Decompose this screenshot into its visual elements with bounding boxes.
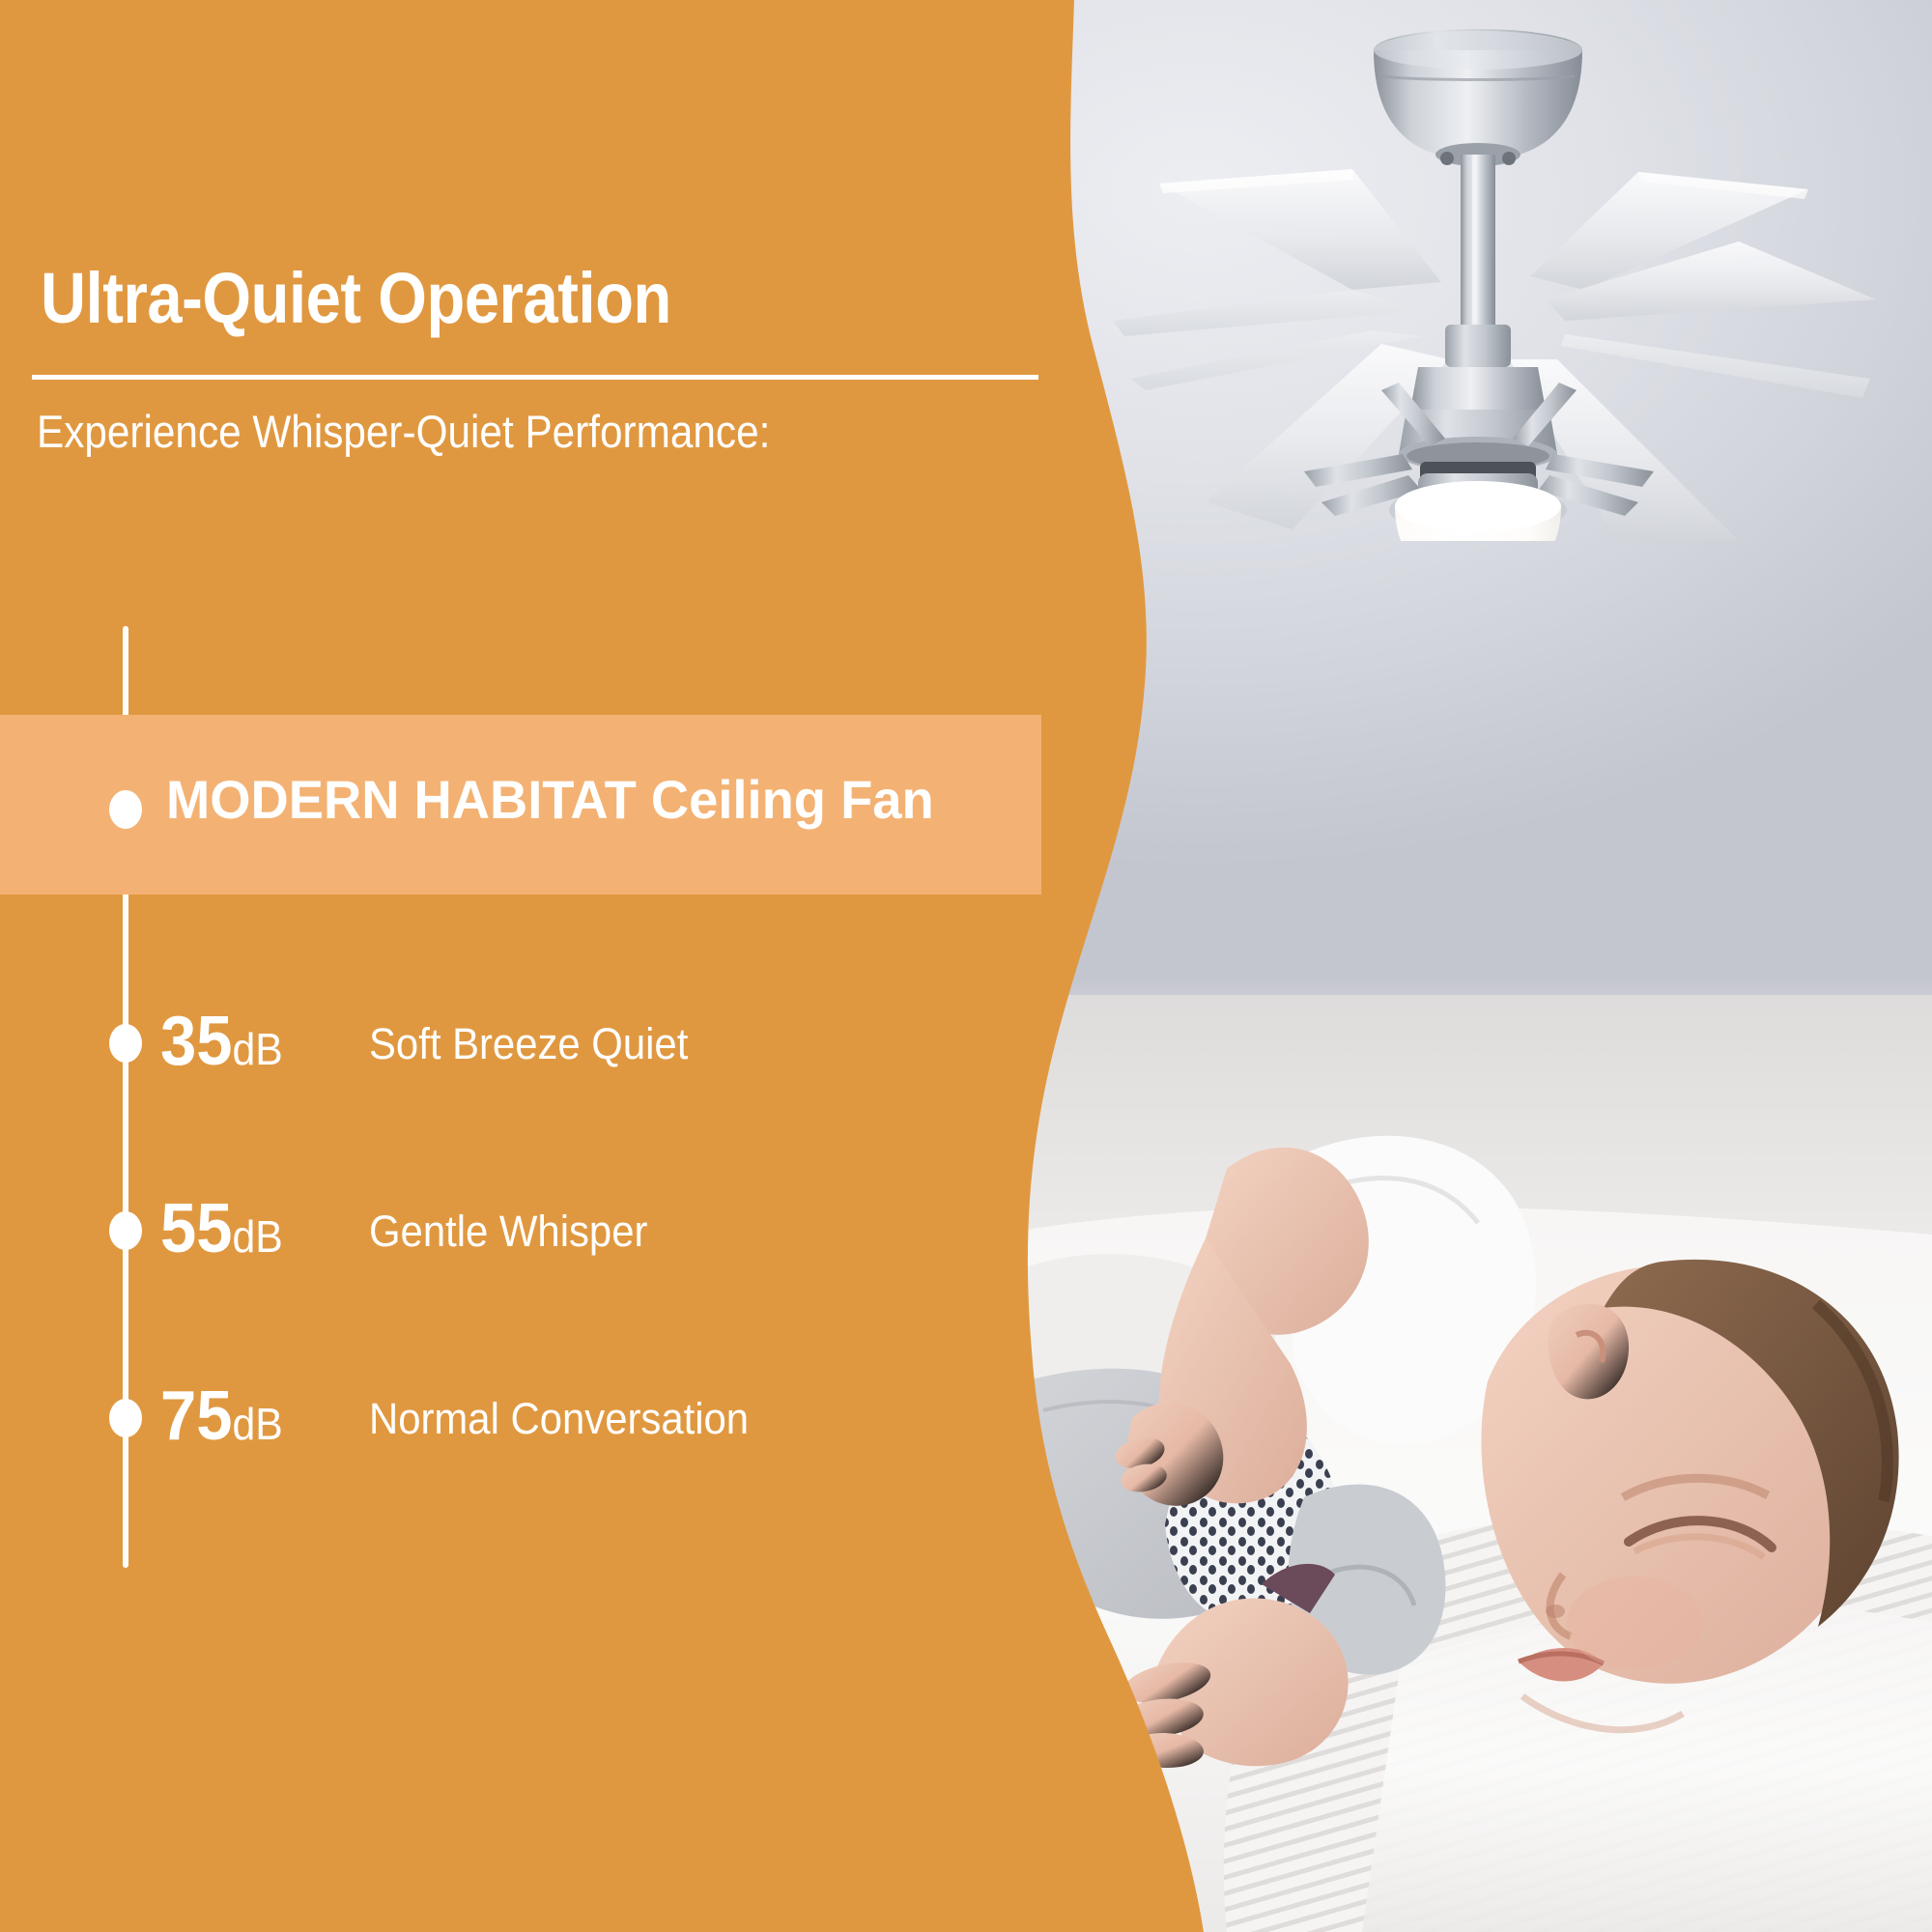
fan-motor-housing (1399, 325, 1557, 471)
noise-level-description: Normal Conversation (369, 1397, 749, 1440)
ceiling-fan-image (1063, 0, 1893, 541)
left-content: Ultra-Quiet Operation Experience Whisper… (0, 0, 1082, 1932)
sleeping-baby-image (985, 995, 1932, 1932)
noise-level-row: 75dB Normal Conversation (0, 1381, 966, 1459)
timeline-dot-35db (109, 1024, 142, 1063)
noise-level-value: 55dB (160, 1194, 283, 1264)
noise-level-row: 55dB Gentle Whisper (0, 1194, 966, 1271)
title-divider (32, 375, 1038, 380)
fan-light-globe (1389, 473, 1567, 541)
infographic-banner: Ultra-Quiet Operation Experience Whisper… (0, 0, 1932, 1932)
page-title: Ultra-Quiet Operation (41, 263, 671, 334)
noise-level-value: 35dB (160, 1007, 283, 1076)
noise-level-description: Soft Breeze Quiet (369, 1022, 688, 1065)
timeline-dot-product (109, 790, 142, 829)
timeline-dot-75db (109, 1399, 142, 1437)
noise-level-row: 35dB Soft Breeze Quiet (0, 1007, 966, 1084)
fan-canopy (1374, 29, 1582, 166)
page-subtitle: Experience Whisper-Quiet Performance: (37, 404, 770, 461)
product-name-label: MODERN HABITAT Ceiling Fan (166, 773, 934, 827)
noise-level-value: 75dB (160, 1381, 283, 1451)
noise-level-description: Gentle Whisper (369, 1209, 647, 1253)
timeline-dot-55db (109, 1211, 142, 1250)
